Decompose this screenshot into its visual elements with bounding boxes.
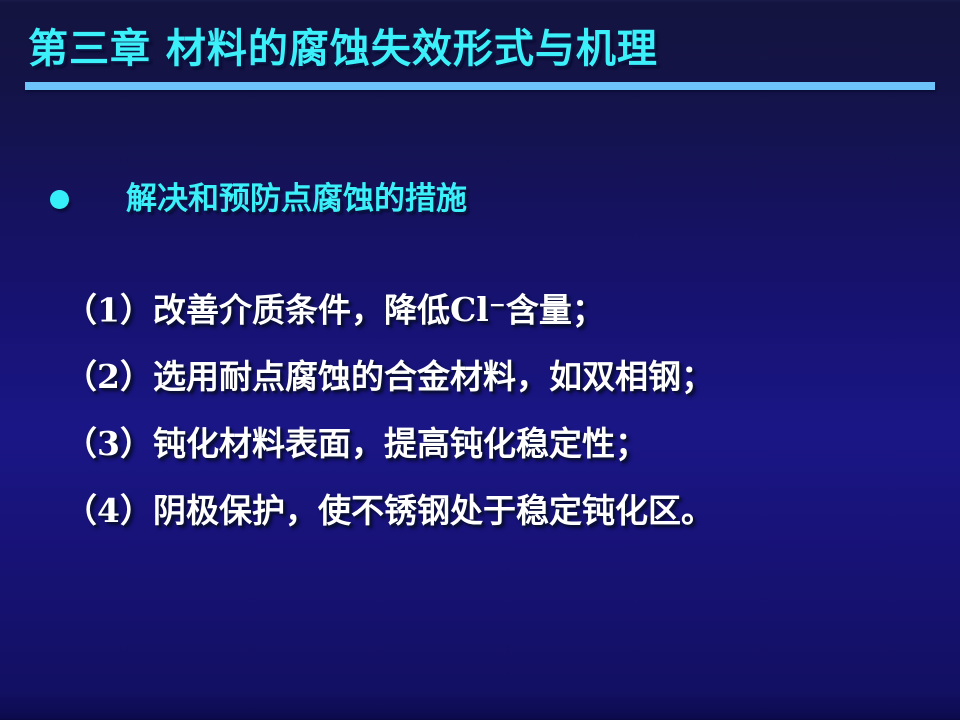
ion-charge: −	[489, 293, 506, 317]
filled-circle-bullet-icon	[50, 190, 69, 209]
title-underline-rule	[25, 82, 935, 90]
list-item-number: （4）	[64, 491, 153, 530]
list-item-text-before: 选用耐点腐蚀的合金材料，如双相钢；	[153, 357, 714, 396]
list-item: （4）阴极保护，使不锈钢处于稳定钝化区。	[64, 477, 924, 544]
section-heading-label: 解决和预防点腐蚀的措施	[126, 180, 467, 218]
list-item-text-before: 改善介质条件，降低	[153, 290, 450, 329]
list-item: （3）钝化材料表面，提高钝化稳定性；	[64, 410, 924, 477]
list-item: （2）选用耐点腐蚀的合金材料，如双相钢；	[64, 343, 924, 410]
section-heading: 解决和预防点腐蚀的措施	[50, 180, 467, 218]
ion-symbol: Cl	[450, 290, 489, 329]
measures-list: （1）改善介质条件，降低Cl−含量； （2）选用耐点腐蚀的合金材料，如双相钢； …	[64, 272, 924, 544]
page-title: 第三章 材料的腐蚀失效形式与机理	[28, 24, 658, 74]
slide-title-area: 第三章 材料的腐蚀失效形式与机理	[0, 0, 960, 100]
list-item-text-after: 含量；	[506, 290, 605, 329]
list-item-number: （3）	[64, 424, 153, 463]
list-item-text-before: 阴极保护，使不锈钢处于稳定钝化区。	[153, 491, 714, 530]
list-item: （1）改善介质条件，降低Cl−含量；	[64, 272, 924, 343]
list-item-number: （1）	[64, 290, 153, 329]
list-item-number: （2）	[64, 357, 153, 396]
presentation-slide: 第三章 材料的腐蚀失效形式与机理 解决和预防点腐蚀的措施 （1）改善介质条件，降…	[0, 0, 960, 720]
chloride-ion-formula: Cl−	[450, 290, 506, 329]
list-item-text-before: 钝化材料表面，提高钝化稳定性；	[153, 424, 648, 463]
